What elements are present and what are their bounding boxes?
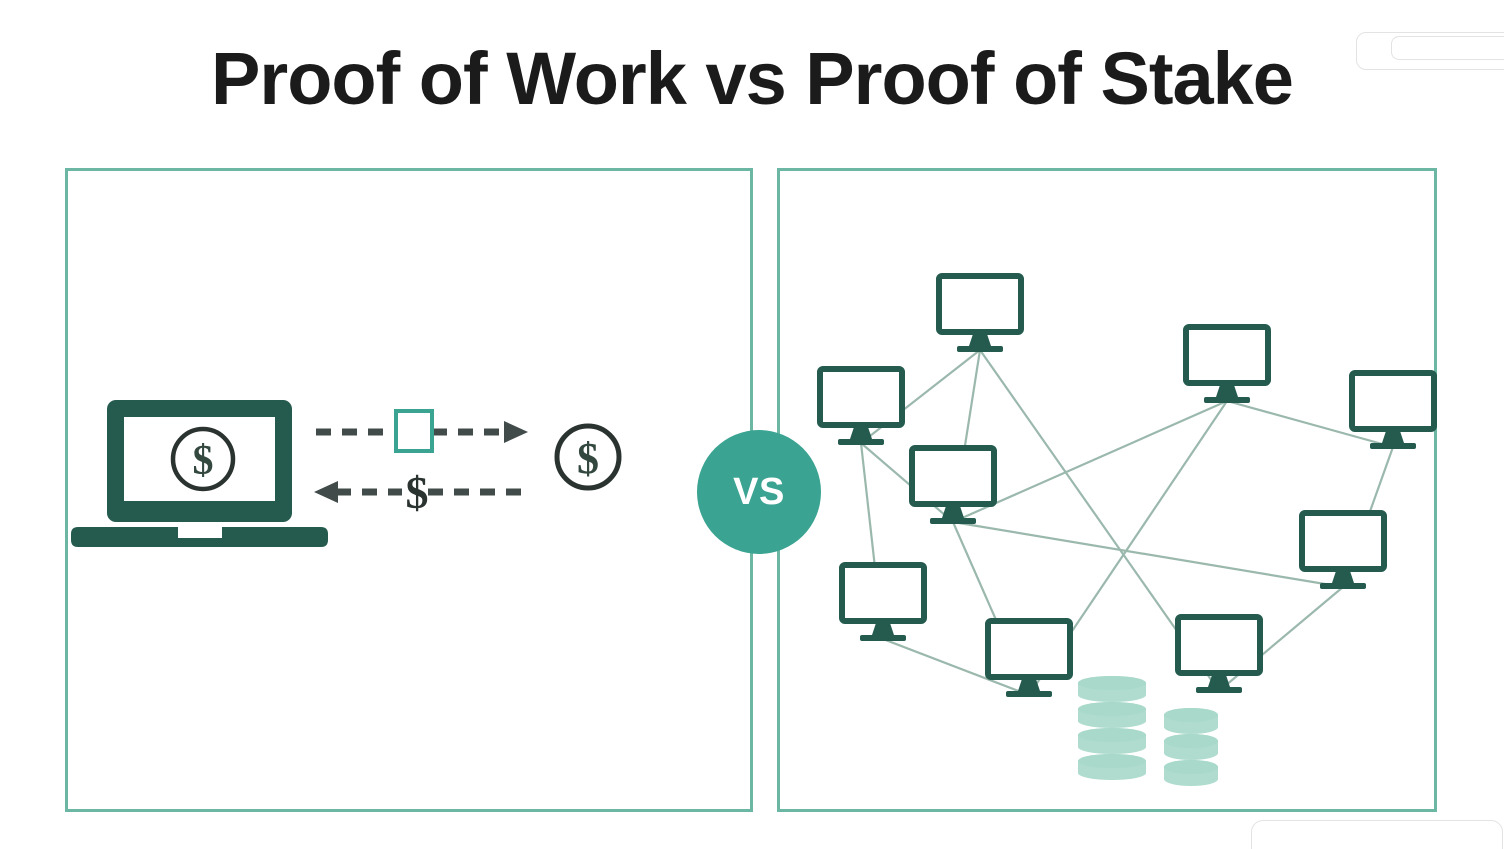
monitor-stand-base xyxy=(957,346,1003,352)
monitor-screen xyxy=(1178,617,1260,673)
coin-top xyxy=(1078,754,1146,768)
monitor-screen xyxy=(842,565,924,621)
dollar-sign-icon: $ xyxy=(406,467,429,518)
monitor-screen xyxy=(988,621,1070,677)
coin-top xyxy=(1078,702,1146,716)
monitor-screen xyxy=(912,448,994,504)
monitor-stand-base xyxy=(838,439,884,445)
monitor-screen xyxy=(1186,327,1268,383)
monitor-stand-base xyxy=(860,635,906,641)
monitor-screen xyxy=(939,276,1021,332)
monitor-stand-base xyxy=(1196,687,1242,693)
coin-top xyxy=(1164,734,1218,748)
coin-top xyxy=(1164,708,1218,722)
coin-top xyxy=(1078,676,1146,690)
coin-top xyxy=(1164,760,1218,774)
coin-stack-short xyxy=(1164,708,1218,786)
monitor-stand-base xyxy=(1006,691,1052,697)
monitor-screen xyxy=(1302,513,1384,569)
vs-badge-label: VS xyxy=(733,471,785,514)
laptop-trackpad-notch xyxy=(178,527,222,538)
monitor-screen xyxy=(1352,373,1434,429)
monitor-screen xyxy=(820,369,902,425)
monitor-stand-base xyxy=(1204,397,1250,403)
vs-badge: VS xyxy=(697,430,821,554)
slide-canvas: Proof of Work vs Proof of Stake $ xyxy=(0,0,1504,849)
monitor-stand-base xyxy=(1320,583,1366,589)
ghost-card-outline-bottom xyxy=(1251,820,1503,849)
page-title: Proof of Work vs Proof of Stake xyxy=(0,36,1504,121)
coin-dollar-glyph: $ xyxy=(193,438,214,484)
monitor-stand-base xyxy=(930,518,976,524)
reward-coin-glyph: $ xyxy=(577,434,599,483)
coin-top xyxy=(1078,728,1146,742)
monitor-stand-base xyxy=(1370,443,1416,449)
block-square-icon xyxy=(396,411,432,451)
